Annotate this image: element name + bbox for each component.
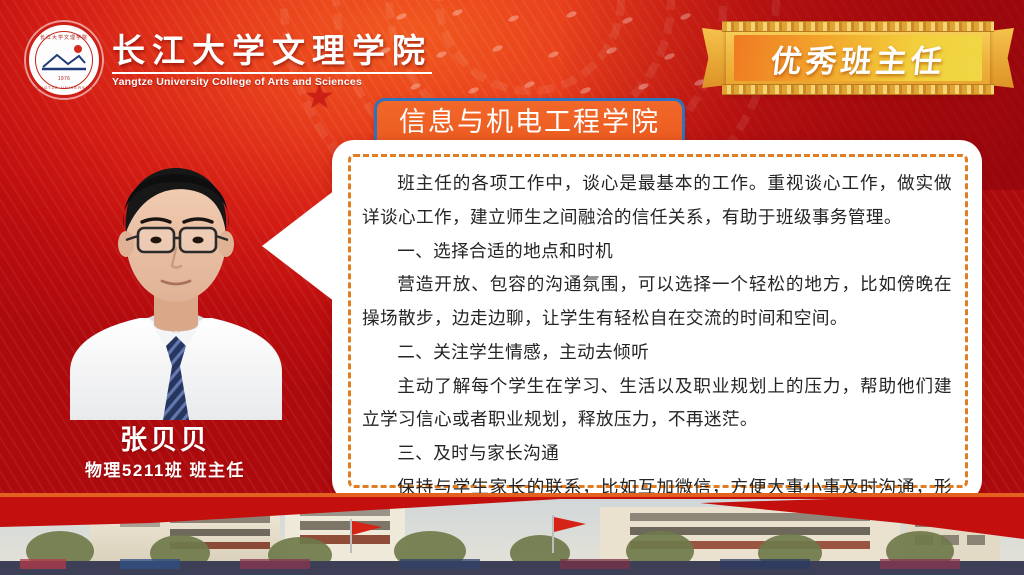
award-badge-label: 优秀班主任 <box>768 36 948 81</box>
ribbon-inner-panel: 优秀班主任 <box>734 35 982 81</box>
brand-logo-block: 长江大学文理学院 1976 YANGTZE UNIVERSITY 长江大学文理学… <box>26 22 432 98</box>
award-ribbon-badge: 优秀班主任 <box>708 22 1008 94</box>
speech-bubble-pointer <box>262 180 348 312</box>
content-paragraph: 班主任的各项工作中，谈心是最基本的工作。重视谈心工作，做实做详谈心工作，建立师生… <box>362 168 952 236</box>
content-paragraph: 三、及时与家长沟通 <box>362 438 952 472</box>
content-card: 班主任的各项工作中，谈心是最基本的工作。重视谈心工作，做实做详谈心工作，建立师生… <box>332 140 982 502</box>
campus-building-photo <box>0 493 1024 575</box>
university-name-cn: 长江大学文理学院 <box>112 34 432 69</box>
content-paragraph: 营造开放、包容的沟通氛围，可以选择一个轻松的地方，比如傍晚在操场散步，边走边聊，… <box>362 269 952 337</box>
slide-canvas: ★ 长江大学文理学院 1976 YANGTZE UNIVERSITY 长江大学文… <box>0 0 1024 575</box>
content-paragraph: 一、选择合适的地点和时机 <box>362 236 952 270</box>
seal-mountain-icon <box>41 50 87 72</box>
section-title-text: 信息与机电工程学院 <box>399 108 660 138</box>
university-seal-icon: 长江大学文理学院 1976 YANGTZE UNIVERSITY <box>26 22 102 98</box>
content-card-body: 班主任的各项工作中，谈心是最基本的工作。重视谈心工作，做实做详谈心工作，建立师生… <box>362 168 952 476</box>
content-paragraph: 主动了解每个学生在学习、生活以及职业规划上的压力，帮助他们建立学习信心或者职业规… <box>362 371 952 439</box>
content-paragraph: 二、关注学生情感，主动去倾听 <box>362 337 952 371</box>
seal-arc-top: 长江大学文理学院 <box>29 34 99 41</box>
teacher-portrait-photo <box>62 128 290 420</box>
content-card-wrapper: 班主任的各项工作中，谈心是最基本的工作。重视谈心工作，做实做详谈心工作，建立师生… <box>262 140 982 502</box>
brand-divider <box>112 72 432 74</box>
seal-year: 1976 <box>29 76 99 82</box>
ribbon-plate: 优秀班主任 <box>726 22 990 94</box>
seal-arc-bottom: YANGTZE UNIVERSITY <box>29 85 99 90</box>
university-name-en: Yangtze University College of Arts and S… <box>112 76 432 88</box>
